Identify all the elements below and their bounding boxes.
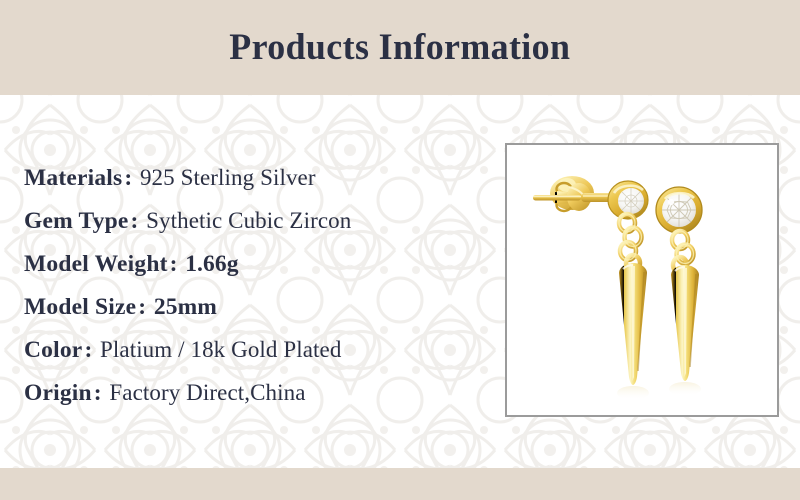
spec-row-model-size: Model Size: 25mm — [24, 285, 474, 328]
spec-label: Gem Type — [24, 208, 129, 234]
product-image-frame — [505, 143, 779, 417]
spec-separator: : — [122, 165, 134, 191]
spec-value: Factory Direct,China — [109, 380, 305, 405]
spec-label: Model Weight — [24, 251, 168, 277]
page-title: Products Information — [229, 26, 570, 69]
spec-row-origin: Origin: Factory Direct,China — [24, 371, 474, 414]
earrings-product-image — [507, 145, 777, 415]
spec-separator: : — [82, 337, 94, 363]
spec-label: Color — [24, 337, 82, 363]
spec-value: Platium / 18k Gold Plated — [100, 337, 341, 362]
spec-label: Materials — [24, 165, 122, 191]
spec-separator: : — [168, 251, 180, 277]
spec-row-color: Color: Platium / 18k Gold Plated — [24, 328, 474, 371]
spec-value: 25mm — [154, 294, 217, 320]
spec-label: Model Size — [24, 294, 136, 320]
specifications-list: Materials: 925 Sterling Silver Gem Type:… — [24, 156, 474, 414]
spec-value: Sythetic Cubic Zircon — [146, 208, 351, 233]
header-banner: Products Information — [0, 0, 800, 95]
spec-label: Origin — [24, 380, 92, 406]
spec-separator: : — [92, 380, 104, 406]
spec-row-gem-type: Gem Type: Sythetic Cubic Zircon — [24, 199, 474, 242]
spec-value: 1.66g — [185, 251, 238, 277]
spec-separator: : — [136, 294, 148, 320]
spec-separator: : — [129, 208, 141, 234]
footer-banner — [0, 468, 800, 500]
spec-value: 925 Sterling Silver — [140, 165, 316, 190]
spec-row-model-weight: Model Weight: 1.66g — [24, 242, 474, 285]
spec-row-materials: Materials: 925 Sterling Silver — [24, 156, 474, 199]
gem-bezel-right — [656, 187, 702, 233]
product-information-page: Products Information Materials: 925 Ster… — [0, 0, 800, 500]
